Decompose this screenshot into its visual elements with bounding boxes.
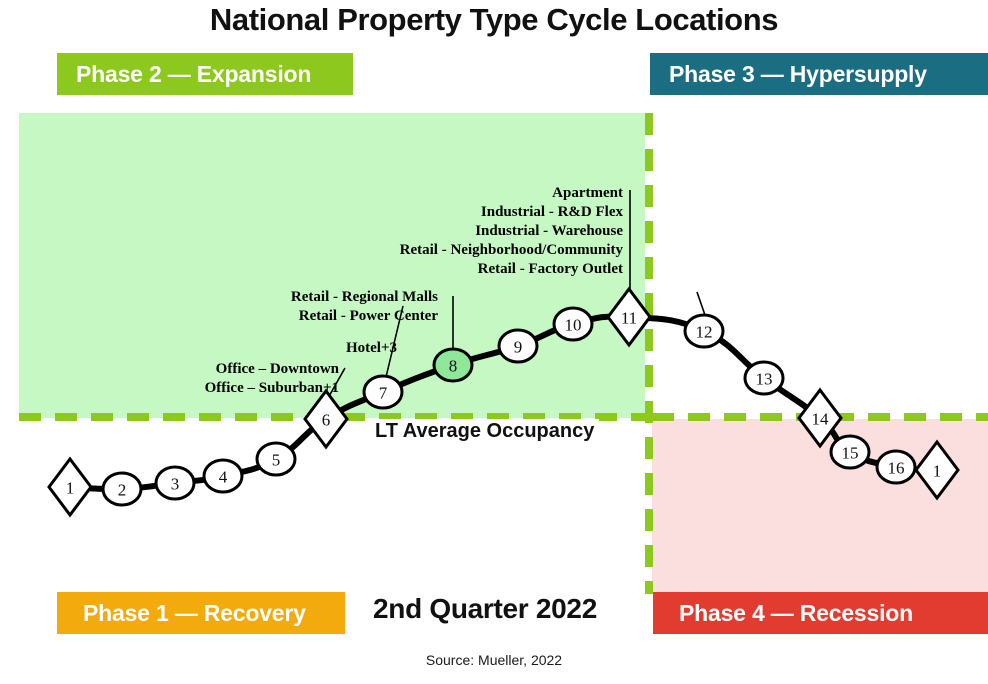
cycle-marker-2-1[interactable]: 2 [103,473,141,505]
cycle-chart-root: National Property Type Cycle Locations P… [0,0,988,684]
marker-label: 1 [933,462,942,481]
marker-label: 6 [322,411,331,430]
cycle-marker-9-8[interactable]: 9 [499,330,537,362]
cycle-marker-1-16[interactable]: 1 [916,442,958,498]
marker-label: 14 [812,410,830,429]
marker-label: 1 [66,479,75,498]
cycle-marker-8-7[interactable]: 8 [434,349,472,381]
cycle-marker-4-3[interactable]: 4 [204,460,242,492]
marker-label: 16 [888,459,905,478]
cycle-marker-12-11[interactable]: 12 [685,315,723,347]
cycle-marker-10-9[interactable]: 10 [554,308,592,340]
marker-label: 3 [171,475,180,494]
cycle-marker-3-2[interactable]: 3 [156,467,194,499]
marker-label: 5 [272,451,281,470]
cycle-marker-13-12[interactable]: 13 [745,362,783,394]
cycle-marker-11-10[interactable]: 11 [608,289,650,345]
cycle-marker-15-14[interactable]: 15 [831,436,869,468]
cycle-curve-layer: 123456789101112131415161 [0,0,988,684]
cycle-marker-16-15[interactable]: 16 [877,451,915,483]
marker-label: 9 [514,338,523,357]
marker-label: 7 [379,384,388,403]
marker-label: 12 [696,323,713,342]
connector-point-7 [386,306,403,377]
marker-label: 4 [219,468,228,487]
marker-label: 2 [118,481,127,500]
cycle-marker-1-0[interactable]: 1 [49,459,91,515]
cycle-marker-5-4[interactable]: 5 [257,443,295,475]
marker-label: 10 [565,316,582,335]
cycle-markers: 123456789101112131415161 [49,289,958,515]
connector-point-6 [328,368,345,398]
marker-label: 15 [842,444,859,463]
marker-label: 11 [621,309,637,328]
marker-label: 8 [449,357,458,376]
annotation-connectors [328,190,706,398]
marker-label: 13 [756,370,773,389]
cycle-marker-6-5[interactable]: 6 [305,391,347,447]
cycle-marker-7-6[interactable]: 7 [364,376,402,408]
